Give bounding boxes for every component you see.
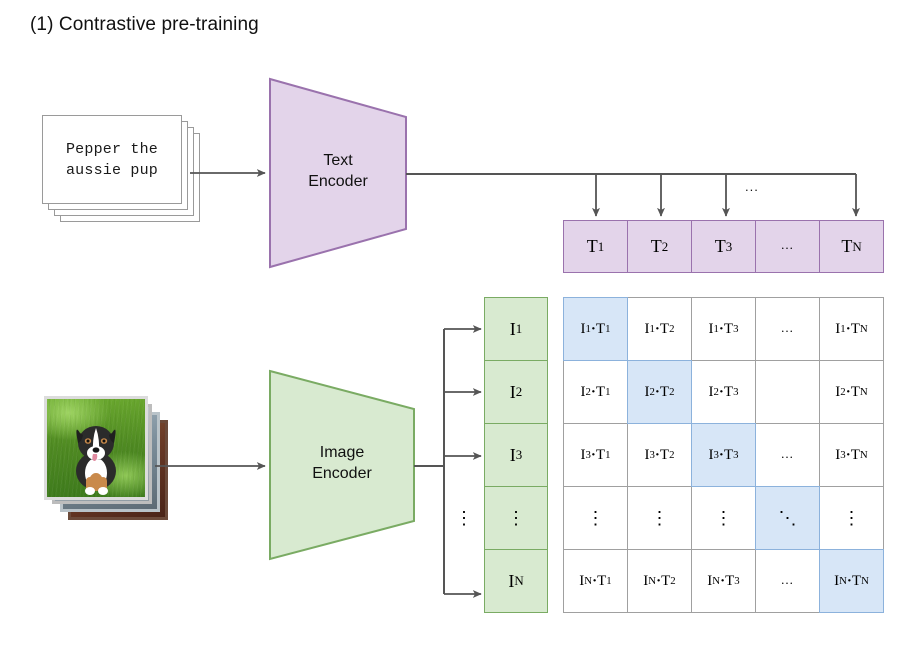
matrix-cell-r3-c3[interactable]: I3·T3 [691,423,756,487]
matrix-row: ⋮⋮⋮⋱⋮ [563,487,884,550]
matrix-cell-r5-c3[interactable]: IN·T3 [691,549,756,613]
t-row-ellipsis-above: ... [745,180,759,193]
matrix-cell-r2-c2[interactable]: I2·T2 [627,360,692,424]
similarity-matrix: I1·T1I1·T2I1·T3...I1·TNI2·T1I2·T2I2·T3I2… [563,297,884,613]
image-embedding-cell-4[interactable]: ⋮ [484,486,548,550]
matrix-cell-r1-c1[interactable]: I1·T1 [563,297,628,361]
matrix-cell-r3-c4[interactable]: ... [755,423,820,487]
text-encoder-line1: Text [268,150,408,171]
image-encoder-line2: Encoder [268,463,416,484]
text-embedding-cell-1[interactable]: T1 [563,220,628,273]
matrix-cell-r2-c3[interactable]: I2·T3 [691,360,756,424]
matrix-cell-r4-c1[interactable]: ⋮ [563,486,628,550]
matrix-cell-r2-c5[interactable]: I2·TN [819,360,884,424]
matrix-row: I1·T1I1·T2I1·T3...I1·TN [563,297,884,361]
matrix-cell-r1-c4[interactable]: ... [755,297,820,361]
matrix-cell-r4-c4[interactable]: ⋱ [755,486,820,550]
text-encoder-block[interactable]: Text Encoder [268,77,408,269]
text-embedding-cell-5[interactable]: TN [819,220,884,273]
diagram-canvas: (1) Contrastive pre-training Pepper the … [0,0,906,654]
matrix-cell-r1-c2[interactable]: I1·T2 [627,297,692,361]
i-column-ellipsis-left: ⋮ [455,508,473,529]
matrix-cell-r4-c2[interactable]: ⋮ [627,486,692,550]
matrix-cell-r2-c4[interactable] [755,360,820,424]
matrix-cell-r1-c5[interactable]: I1·TN [819,297,884,361]
image-embedding-cell-1[interactable]: I1 [484,297,548,361]
text-card-front: Pepper the aussie pup [42,115,182,204]
matrix-row: I2·T1I2·T2I2·T3I2·TN [563,361,884,424]
text-embedding-row: T1T2T3...TN [563,220,884,273]
page-title: (1) Contrastive pre-training [30,14,259,36]
matrix-cell-r2-c1[interactable]: I2·T1 [563,360,628,424]
text-encoder-label: Text Encoder [268,150,408,192]
text-embedding-cell-4[interactable]: ... [755,220,820,273]
text-encoder-line2: Encoder [268,171,408,192]
matrix-cell-r5-c1[interactable]: IN·T1 [563,549,628,613]
matrix-cell-r3-c1[interactable]: I3·T1 [563,423,628,487]
image-encoder-line1: Image [268,442,416,463]
matrix-cell-r4-c3[interactable]: ⋮ [691,486,756,550]
image-embedding-column: I1I2I3⋮IN [484,297,548,613]
matrix-cell-r3-c5[interactable]: I3·TN [819,423,884,487]
matrix-row: IN·T1IN·T2IN·T3...IN·TN [563,550,884,613]
image-embedding-cell-5[interactable]: IN [484,549,548,613]
puppy-illustration [47,399,145,497]
text-embedding-cell-2[interactable]: T2 [627,220,692,273]
image-card-front [44,396,148,500]
image-embedding-cell-3[interactable]: I3 [484,423,548,487]
matrix-cell-r4-c5[interactable]: ⋮ [819,486,884,550]
image-embedding-cell-2[interactable]: I2 [484,360,548,424]
text-caption-label: Pepper the aussie pup [66,139,158,181]
image-encoder-label: Image Encoder [268,442,416,484]
text-embedding-cell-3[interactable]: T3 [691,220,756,273]
matrix-cell-r3-c2[interactable]: I3·T2 [627,423,692,487]
matrix-cell-r5-c2[interactable]: IN·T2 [627,549,692,613]
matrix-cell-r1-c3[interactable]: I1·T3 [691,297,756,361]
matrix-cell-r5-c5[interactable]: IN·TN [819,549,884,613]
matrix-cell-r5-c4[interactable]: ... [755,549,820,613]
image-encoder-block[interactable]: Image Encoder [268,369,416,561]
matrix-row: I3·T1I3·T2I3·T3...I3·TN [563,424,884,487]
